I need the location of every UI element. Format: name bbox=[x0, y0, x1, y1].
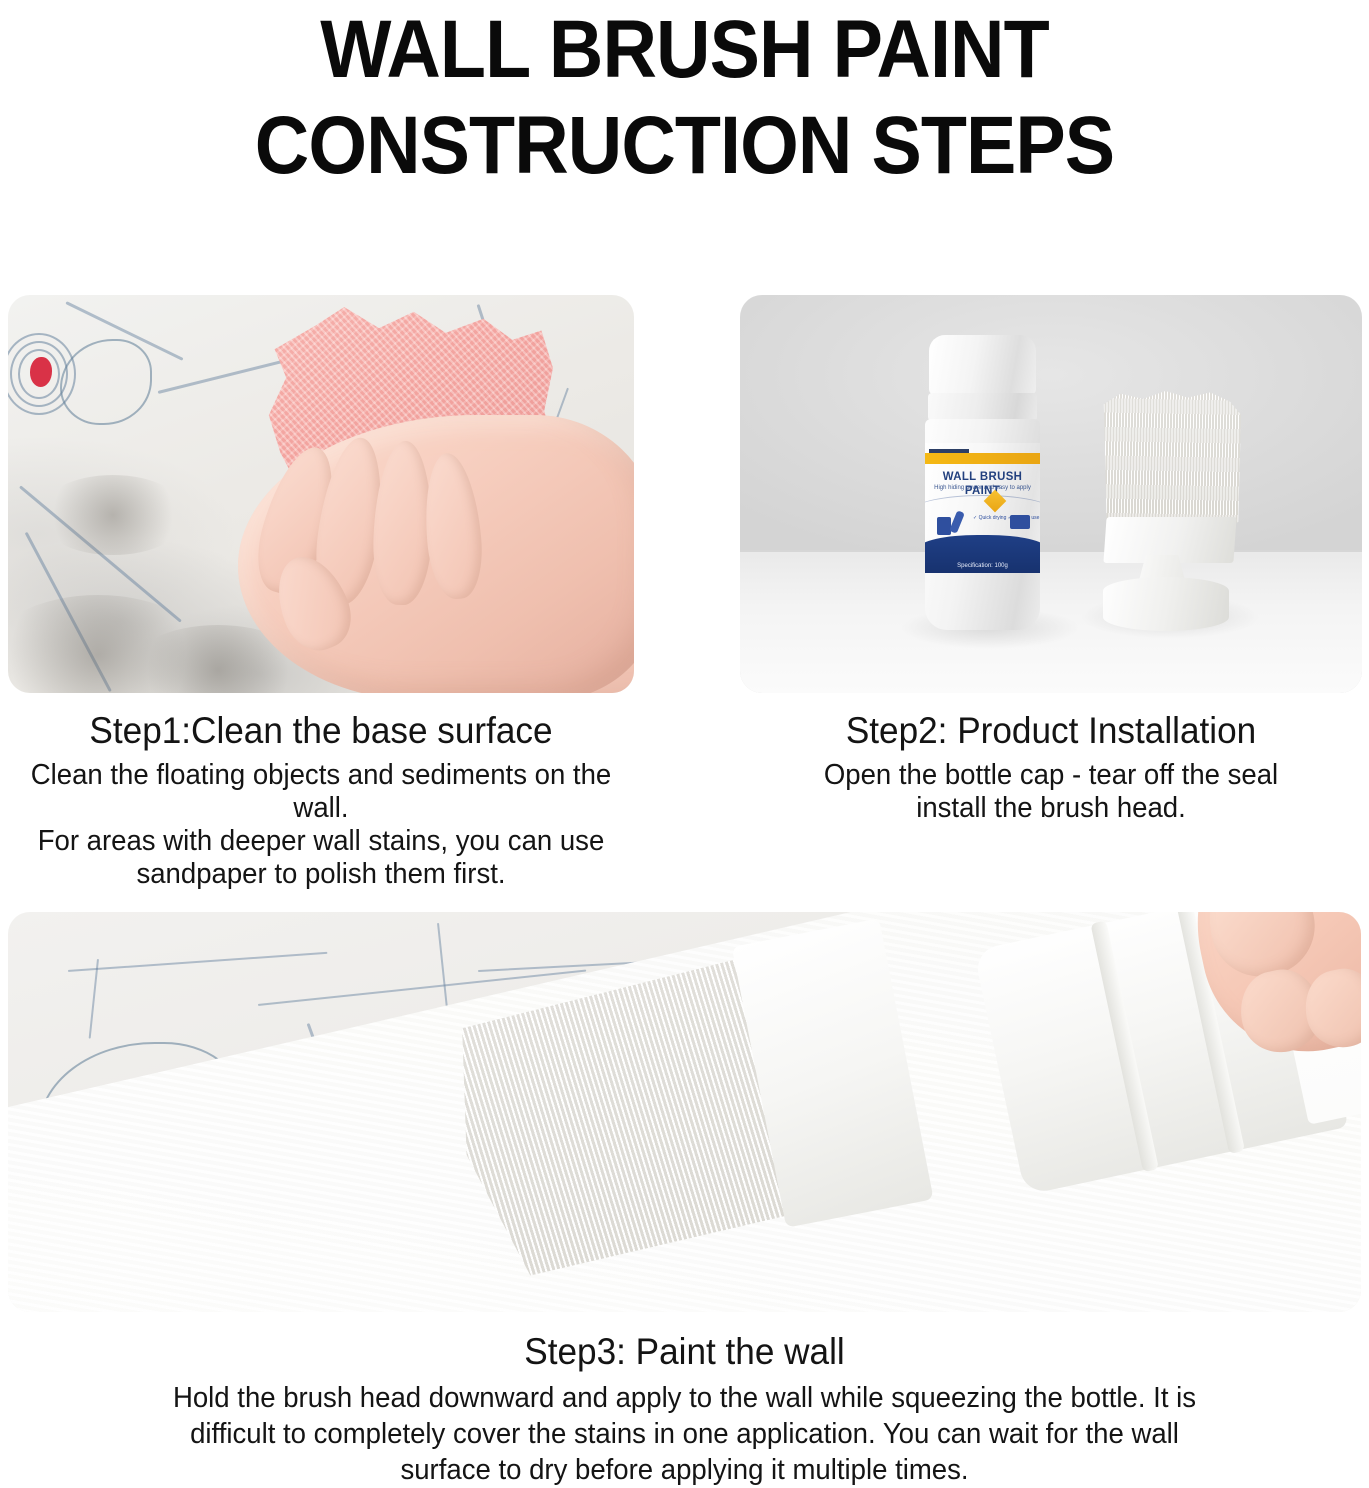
title-line-1: WALL BRUSH PAINT bbox=[55, 2, 1314, 98]
page-title: WALL BRUSH PAINT CONSTRUCTION STEPS bbox=[0, 0, 1369, 194]
label-tagline-text: High hiding power and easy to apply bbox=[925, 485, 1040, 491]
step1-body-line3: sandpaper to polish them first. bbox=[24, 858, 619, 891]
wall-stain-3 bbox=[38, 475, 188, 555]
step3-body-line2: difficult to completely cover the stains… bbox=[42, 1416, 1327, 1452]
step2-photo: WALL BRUSH PAINT High hiding power and e… bbox=[740, 295, 1362, 693]
step3-title: Step3: Paint the wall bbox=[42, 1330, 1327, 1374]
product-bottle: WALL BRUSH PAINT High hiding power and e… bbox=[923, 335, 1042, 630]
step2-title: Step2: Product Installation bbox=[756, 709, 1347, 753]
step3-body: Hold the brush head downward and apply t… bbox=[42, 1380, 1327, 1488]
step1-caption: Step1:Clean the base surface Clean the f… bbox=[8, 709, 634, 891]
step-card-2: WALL BRUSH PAINT High hiding power and e… bbox=[740, 295, 1362, 825]
bottle-collar bbox=[928, 393, 1037, 421]
step-card-3: WALL Step3: Paint the wall Hold the brus… bbox=[8, 912, 1361, 1488]
step3-photo: WALL bbox=[8, 912, 1361, 1312]
label-bottle-icon bbox=[937, 517, 951, 535]
step3-body-line3: surface to dry before applying it multip… bbox=[42, 1452, 1327, 1488]
step2-body: Open the bottle cap - tear off the seal … bbox=[756, 759, 1347, 825]
bottle-label: WALL BRUSH PAINT High hiding power and e… bbox=[925, 443, 1040, 573]
step1-photo bbox=[8, 295, 634, 693]
step2-body-line2: install the brush head. bbox=[756, 792, 1347, 825]
step2-body-line1: Open the bottle cap - tear off the seal bbox=[756, 759, 1347, 792]
bottle-cap bbox=[929, 335, 1036, 395]
label-blue-footer: Specification: 100g bbox=[925, 535, 1040, 573]
label-spec-text: Specification: 100g bbox=[925, 563, 1040, 569]
brush-base-cap bbox=[1103, 577, 1229, 631]
step1-body: Clean the floating objects and sediments… bbox=[24, 759, 619, 891]
step3-body-line1: Hold the brush head downward and apply t… bbox=[42, 1380, 1327, 1416]
label-brand-text: WALL BRUSH PAINT bbox=[928, 469, 1037, 497]
step-card-1: Step1:Clean the base surface Clean the f… bbox=[8, 295, 634, 891]
step1-body-line1: Clean the floating objects and sediments… bbox=[24, 759, 619, 825]
step1-title: Step1:Clean the base surface bbox=[24, 709, 619, 753]
label-gold-band bbox=[925, 453, 1040, 464]
label-bullets-text: ✓ Quick drying ✓ Easy to use bbox=[973, 515, 1039, 522]
steps-row-top: Step1:Clean the base surface Clean the f… bbox=[0, 295, 1369, 870]
brush-bristles bbox=[1101, 391, 1241, 523]
title-line-2: CONSTRUCTION STEPS bbox=[55, 98, 1314, 194]
step3-caption: Step3: Paint the wall Hold the brush hea… bbox=[8, 1330, 1361, 1488]
brush-head-assembly bbox=[1095, 391, 1241, 631]
step1-body-line2: For areas with deeper wall stains, you c… bbox=[24, 825, 619, 858]
step2-caption: Step2: Product Installation Open the bot… bbox=[740, 709, 1362, 825]
